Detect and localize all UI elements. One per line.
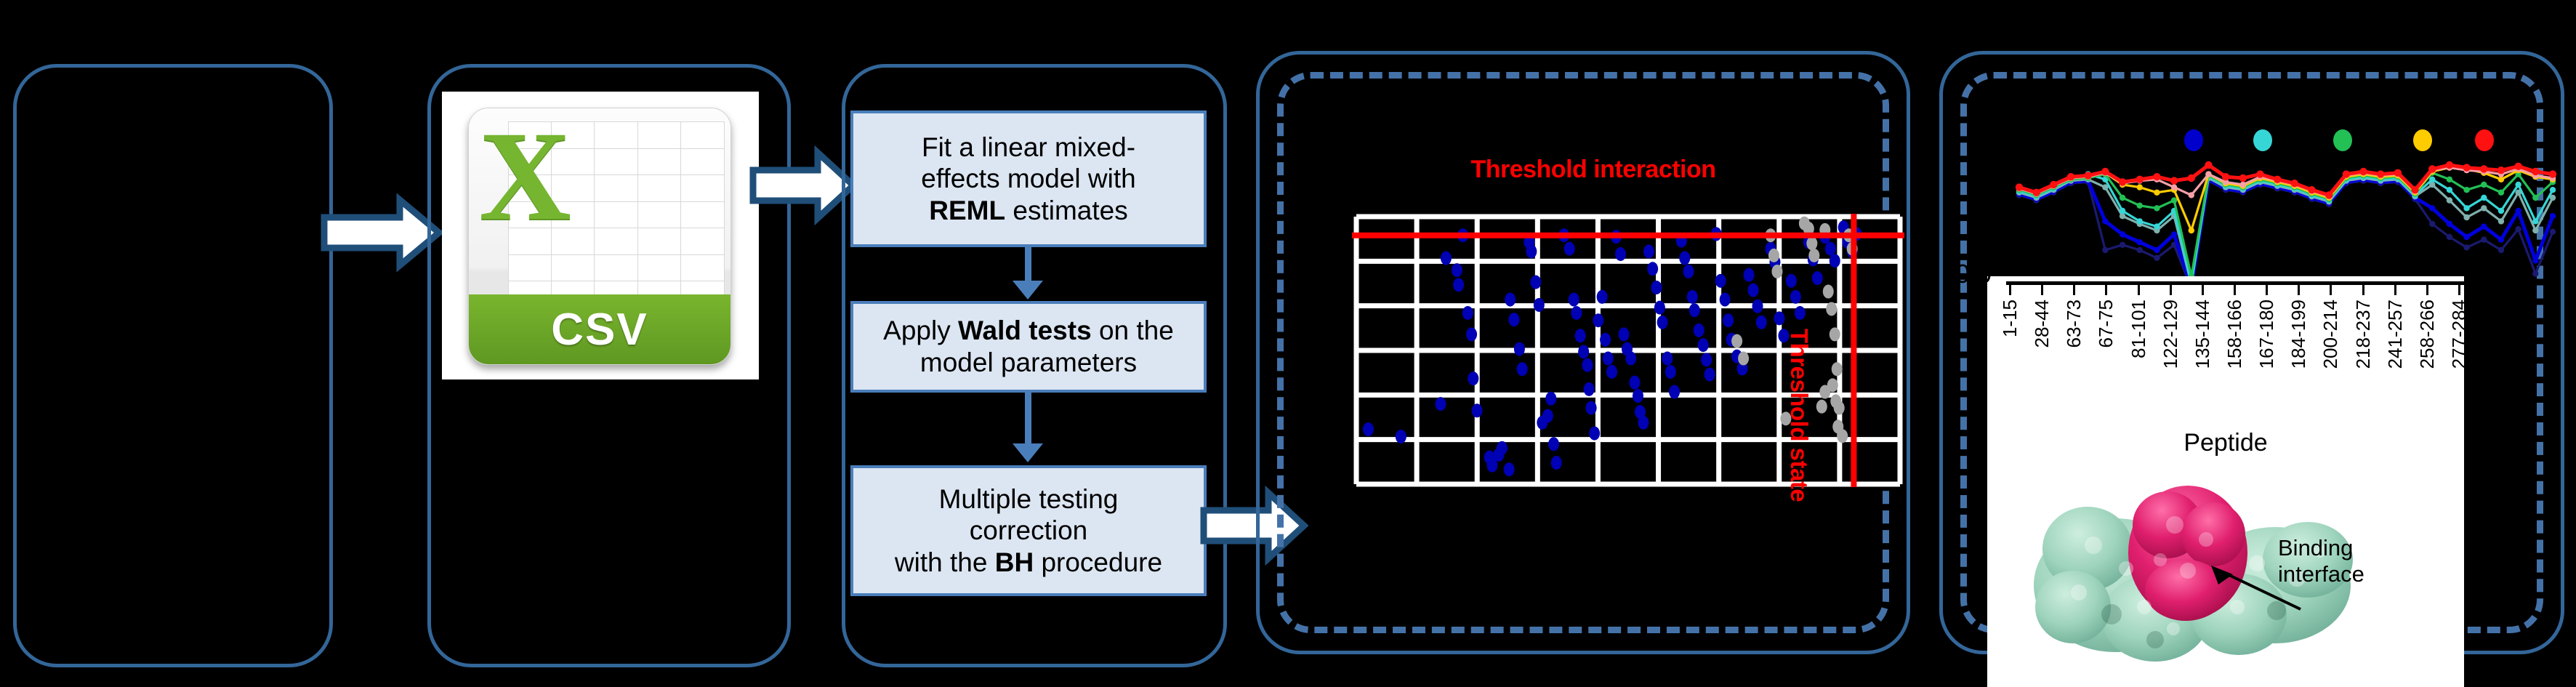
data-point	[2515, 182, 2521, 188]
scatter-point	[1462, 306, 1473, 320]
scatter-point	[1600, 333, 1611, 347]
data-point	[2189, 192, 2194, 198]
step2-bold: Wald tests	[958, 316, 1092, 345]
step2-pre: Apply	[883, 316, 958, 345]
scatter-point	[1396, 430, 1406, 443]
x-axis-tick	[2426, 285, 2428, 295]
data-point	[2428, 165, 2436, 172]
scatter-point	[1651, 281, 1662, 294]
data-point	[2325, 191, 2333, 198]
scatter-point	[1756, 316, 1767, 329]
x-axis-tick-label: 67-75	[2095, 300, 2117, 348]
data-point	[2498, 236, 2504, 242]
scatter-point	[1837, 429, 1848, 443]
step-fit-model: Fit a linear mixed- effects model with R…	[850, 111, 1207, 247]
data-point	[2446, 161, 2453, 169]
data-point	[2120, 242, 2125, 248]
spreadsheet-cell	[680, 121, 725, 150]
data-point	[2171, 231, 2177, 237]
spreadsheet-cell	[594, 228, 638, 256]
data-point	[2481, 205, 2487, 211]
data-point	[2411, 186, 2418, 193]
data-point	[2239, 174, 2247, 182]
data-point	[2101, 168, 2109, 175]
spreadsheet-cell	[637, 228, 682, 256]
data-point	[2514, 163, 2521, 170]
scatter-point	[1720, 293, 1731, 307]
data-point	[2067, 173, 2074, 180]
data-point	[2498, 218, 2504, 224]
data-point	[2481, 223, 2487, 229]
data-point	[2394, 169, 2402, 177]
step1-line3-rest: estimates	[1005, 196, 1128, 225]
spreadsheet-cell	[637, 121, 682, 150]
data-point	[2120, 213, 2125, 219]
x-axis-tick-label: 184-199	[2287, 300, 2310, 369]
spreadsheet-cell	[594, 174, 638, 203]
scatter-point	[1593, 313, 1603, 327]
scatter-point	[1806, 236, 1817, 250]
scatter-point	[1669, 385, 1680, 399]
data-point	[2429, 205, 2435, 211]
data-point	[2154, 247, 2160, 253]
scatter-point	[1826, 302, 1837, 316]
data-point	[2205, 171, 2211, 177]
series-line-t-blue	[2019, 180, 2553, 287]
data-point	[2498, 177, 2504, 182]
step3-line3-post: procedure	[1034, 547, 1162, 577]
data-point	[2447, 221, 2452, 227]
scatter-point	[1441, 252, 1452, 265]
data-point	[2120, 195, 2125, 201]
scatter-point	[1679, 252, 1690, 265]
scatter-point	[1468, 371, 1478, 385]
x-axis-tick	[2073, 285, 2075, 295]
data-point	[2240, 182, 2246, 188]
binding-label-line1: Binding	[2278, 535, 2460, 561]
data-point	[2532, 270, 2538, 276]
data-point	[2222, 173, 2229, 180]
scatter-point	[1504, 462, 1515, 476]
data-point	[2429, 221, 2435, 227]
data-point	[2377, 170, 2384, 177]
spreadsheet-cell	[594, 201, 638, 230]
x-axis-tick-label: 63-73	[2063, 300, 2085, 348]
spreadsheet-cell	[637, 254, 682, 283]
data-point	[2136, 176, 2144, 183]
scatter-point	[1812, 271, 1823, 285]
x-axis-tick	[2234, 285, 2236, 295]
scatter-point	[1582, 358, 1593, 372]
x-axis-tick-label: 258-266	[2416, 300, 2439, 369]
data-point	[2532, 195, 2538, 201]
step-wald-tests: Apply Wald tests on the model parameters	[850, 301, 1207, 393]
scatter-point	[1689, 303, 1700, 317]
scatter-point	[1825, 242, 1836, 256]
scatter-point	[1633, 389, 1643, 403]
series-line-t-teal	[2019, 178, 2553, 284]
scatter-point	[1629, 376, 1640, 390]
spreadsheet-cell	[476, 331, 496, 355]
y-axis-tick-label: 0.0	[1955, 259, 1992, 289]
spreadsheet-cell	[680, 228, 725, 256]
peptide-uptake-chart	[2006, 154, 2559, 292]
data-point	[2137, 203, 2143, 209]
scatter-point	[1744, 268, 1755, 282]
scatter-point	[1548, 437, 1559, 451]
x-axis-tick	[2202, 285, 2204, 295]
scatter-point	[1517, 362, 1528, 376]
x-axis-tick-label: 277-284	[2448, 300, 2464, 369]
scatter-point	[1830, 327, 1840, 341]
scatter-point	[1786, 274, 1797, 288]
legend-dot-4	[2413, 129, 2432, 151]
data-point	[2154, 190, 2160, 196]
scatter-point	[1453, 278, 1464, 292]
threshold-interaction-label: Threshold interaction	[1361, 156, 1826, 184]
data-point	[2153, 173, 2160, 180]
scatter-point	[1795, 306, 1806, 320]
data-point	[2154, 255, 2160, 261]
scatter-point	[1508, 313, 1519, 326]
step3-line2: correction	[970, 515, 1087, 545]
data-point	[2498, 208, 2504, 214]
scatter-point	[1571, 306, 1582, 320]
scatter-point	[1774, 311, 1784, 325]
scatter-point	[1687, 290, 1698, 304]
scatter-point	[1452, 263, 1462, 277]
spreadsheet-cell	[594, 148, 638, 177]
data-point	[2120, 208, 2125, 214]
x-axis-tick	[2041, 285, 2043, 295]
scatter-point	[1619, 327, 1630, 341]
scatter-point	[1704, 368, 1715, 382]
data-point	[2532, 257, 2538, 263]
step3-line3-pre: with the	[895, 547, 995, 577]
connector-2-arrowhead	[1013, 443, 1043, 462]
data-point	[2532, 218, 2538, 224]
data-point	[2549, 170, 2556, 177]
data-point	[2532, 168, 2539, 175]
data-point	[2256, 170, 2263, 177]
scatter-point	[1497, 441, 1508, 455]
data-point	[2359, 168, 2367, 175]
data-point	[2463, 187, 2469, 193]
scatter-point	[1505, 293, 1516, 307]
data-point	[2463, 164, 2470, 171]
scatter-point	[1606, 365, 1617, 379]
scatter-point	[1578, 345, 1589, 358]
data-point	[2343, 170, 2350, 177]
data-point	[2137, 184, 2143, 190]
scatter-point	[1638, 416, 1649, 430]
data-point	[2205, 161, 2212, 169]
data-point	[2447, 177, 2452, 182]
scatter-point	[1586, 401, 1597, 415]
connector-1	[1025, 247, 1031, 282]
scatter-point	[1597, 290, 1608, 304]
scatter-point	[1615, 247, 1626, 261]
data-point	[2481, 182, 2487, 188]
spreadsheet-cell	[476, 306, 496, 331]
scatter-point	[1665, 365, 1676, 379]
scatter-point	[1657, 316, 1668, 329]
scatter-point	[1542, 409, 1553, 423]
data-point	[2447, 197, 2452, 203]
step1-reml: REML	[929, 196, 1005, 225]
input-panel	[13, 64, 333, 667]
step-bh-correction: Multiple testing correction with the BH …	[850, 465, 1207, 596]
data-point	[2550, 229, 2556, 235]
scatter-point	[1748, 284, 1759, 297]
scatter-point	[1830, 254, 1840, 268]
data-point	[2102, 247, 2108, 253]
x-axis-tick	[2330, 285, 2332, 295]
data-point	[2498, 247, 2504, 253]
data-point	[2154, 205, 2160, 211]
data-point	[2463, 234, 2469, 240]
spreadsheet-cell	[637, 148, 682, 177]
data-point	[2170, 177, 2178, 184]
spreadsheet-cell	[680, 201, 725, 230]
x-axis-tick-label: 241-257	[2384, 300, 2407, 369]
x-axis-tick-label: 135-144	[2191, 300, 2214, 369]
data-point	[2481, 195, 2487, 201]
scatter-point	[1768, 249, 1779, 262]
data-point	[2120, 231, 2125, 237]
x-axis-tick-label: 167-180	[2255, 300, 2278, 369]
scatter-point	[1683, 265, 1694, 278]
x-axis-tick	[2138, 285, 2140, 295]
scatter-point	[1363, 422, 1374, 436]
data-point	[2463, 214, 2469, 220]
scatter-point	[1584, 382, 1595, 396]
data-point	[2032, 189, 2040, 196]
x-axis-tick-label: 28-44	[2031, 300, 2053, 348]
spreadsheet-cell	[680, 254, 725, 283]
scatter-point	[1731, 334, 1742, 348]
data-point	[2550, 213, 2556, 219]
x-axis-tick	[2009, 285, 2011, 295]
spreadsheet-cell	[476, 355, 496, 365]
results-figure-card: 1-1528-4463-7367-7581-101122-129135-1441…	[1987, 276, 2464, 687]
spreadsheet-cell	[476, 281, 496, 306]
data-point	[2137, 239, 2143, 245]
x-axis-tick	[2170, 285, 2172, 295]
x-axis-tick-label: 218-237	[2352, 300, 2375, 369]
scatter-point	[1715, 274, 1726, 288]
spreadsheet-cell	[594, 254, 638, 283]
scatter-point	[1832, 362, 1843, 376]
spreadsheet-cell	[680, 174, 725, 203]
data-point	[2171, 184, 2177, 190]
data-point	[2137, 218, 2143, 224]
volcano-scatter-chart	[1352, 182, 1904, 487]
data-point	[2447, 234, 2452, 240]
spreadsheet-cell	[637, 201, 682, 230]
scatter-point	[1723, 313, 1734, 327]
csv-format-label: CSV	[551, 304, 648, 355]
scatter-point	[1545, 392, 1556, 406]
scatter-point	[1701, 353, 1712, 366]
data-point	[2498, 190, 2504, 196]
data-point	[2119, 178, 2126, 185]
x-axis-tick-label: 200-214	[2319, 300, 2342, 369]
x-axis-tick-label: 1-15	[1999, 300, 2021, 337]
scatter-point	[1625, 352, 1636, 366]
data-point	[2515, 208, 2521, 214]
data-point	[2497, 166, 2505, 174]
x-axis-tick	[2105, 285, 2107, 295]
data-point	[2137, 247, 2143, 253]
data-point	[2274, 176, 2281, 183]
scatter-point	[1738, 352, 1749, 366]
scatter-point	[1662, 352, 1673, 366]
binding-label-line2: interface	[2278, 561, 2460, 587]
legend-dot-2	[2253, 129, 2272, 151]
data-point	[2016, 183, 2023, 190]
scatter-point	[1575, 329, 1586, 342]
spreadsheet-cell	[637, 174, 682, 203]
workflow-diagram: X CSV Fit a linear mixed- effects model …	[0, 0, 2576, 687]
data-point	[2154, 223, 2160, 229]
step1-line2: effects model with	[921, 164, 1135, 193]
spreadsheet-cell	[476, 232, 496, 257]
scatter-point	[1698, 338, 1709, 352]
spreadsheet-cell	[680, 148, 725, 177]
scatter-point	[1534, 298, 1545, 312]
data-point	[2481, 236, 2487, 242]
scatter-point	[1551, 456, 1562, 470]
data-point	[2102, 218, 2108, 224]
spreadsheet-cell	[594, 121, 638, 150]
excel-x-glyph: X	[479, 113, 571, 241]
data-point	[2291, 180, 2298, 187]
arrow-input-to-data	[320, 193, 443, 273]
x-axis-tick	[2394, 285, 2396, 295]
x-axis-tick	[2362, 285, 2364, 295]
legend-dot-5	[2475, 129, 2494, 151]
connector-1-arrowhead	[1013, 281, 1043, 300]
scatter-point	[1694, 324, 1704, 337]
x-axis-tick-label: 158-166	[2223, 300, 2246, 369]
scatter-point	[1752, 300, 1763, 313]
data-point	[2308, 186, 2315, 193]
x-axis-tick-label: 122-129	[2160, 300, 2182, 369]
data-point	[2189, 228, 2194, 233]
scatter-point	[1647, 262, 1658, 276]
data-point	[2515, 226, 2521, 232]
scatter-point	[1643, 244, 1654, 258]
spreadsheet-cell	[551, 254, 595, 283]
legend-dot-1	[2184, 129, 2203, 151]
x-axis-tick	[2298, 285, 2300, 295]
data-point	[2550, 187, 2556, 193]
scatter-point	[1564, 242, 1575, 256]
scatter-point	[1472, 403, 1483, 417]
csv-file-icon: X CSV	[442, 92, 759, 379]
step3-line1: Multiple testing	[939, 484, 1119, 514]
step1-line1: Fit a linear mixed-	[922, 132, 1135, 162]
scatter-point	[1654, 301, 1665, 315]
scatter-point	[1589, 427, 1600, 441]
scatter-point	[1603, 352, 1614, 366]
scatter-point	[1834, 401, 1845, 415]
scatter-point	[1466, 327, 1477, 341]
data-point	[2463, 205, 2469, 211]
data-point	[2447, 187, 2452, 193]
peptide-chart-legend	[2006, 129, 2559, 154]
scatter-point	[1808, 249, 1819, 262]
scatter-point	[1816, 400, 1827, 414]
step3-bh: BH	[995, 547, 1034, 577]
scatter-point	[1771, 265, 1782, 278]
scatter-point	[1823, 285, 1834, 299]
data-point	[2171, 197, 2177, 203]
scatter-point	[1569, 293, 1579, 307]
data-point	[2532, 228, 2538, 233]
scatter-point	[1514, 342, 1525, 356]
data-point	[2085, 172, 2092, 179]
spreadsheet-cell	[476, 257, 496, 281]
scatter-point	[1435, 397, 1446, 411]
scatter-point	[1530, 276, 1541, 289]
x-axis-title: Peptide	[1987, 429, 2464, 457]
connector-2	[1025, 393, 1031, 445]
threshold-state-label: Threshold state	[1785, 329, 1813, 502]
data-point	[2050, 181, 2057, 188]
data-point	[2463, 244, 2469, 250]
scatter-point	[1790, 290, 1801, 304]
legend-dot-3	[2333, 129, 2352, 151]
data-point	[2480, 165, 2487, 172]
spreadsheet-grid-left	[476, 232, 517, 308]
x-axis-tick	[2458, 285, 2460, 295]
x-axis-tick	[2266, 285, 2268, 295]
data-point	[2188, 174, 2195, 182]
scatter-point	[1526, 244, 1537, 258]
x-axis-tick-label: 81-101	[2128, 300, 2150, 358]
binding-interface-label: Binding interface	[2278, 535, 2460, 587]
scatter-point	[1819, 385, 1830, 399]
